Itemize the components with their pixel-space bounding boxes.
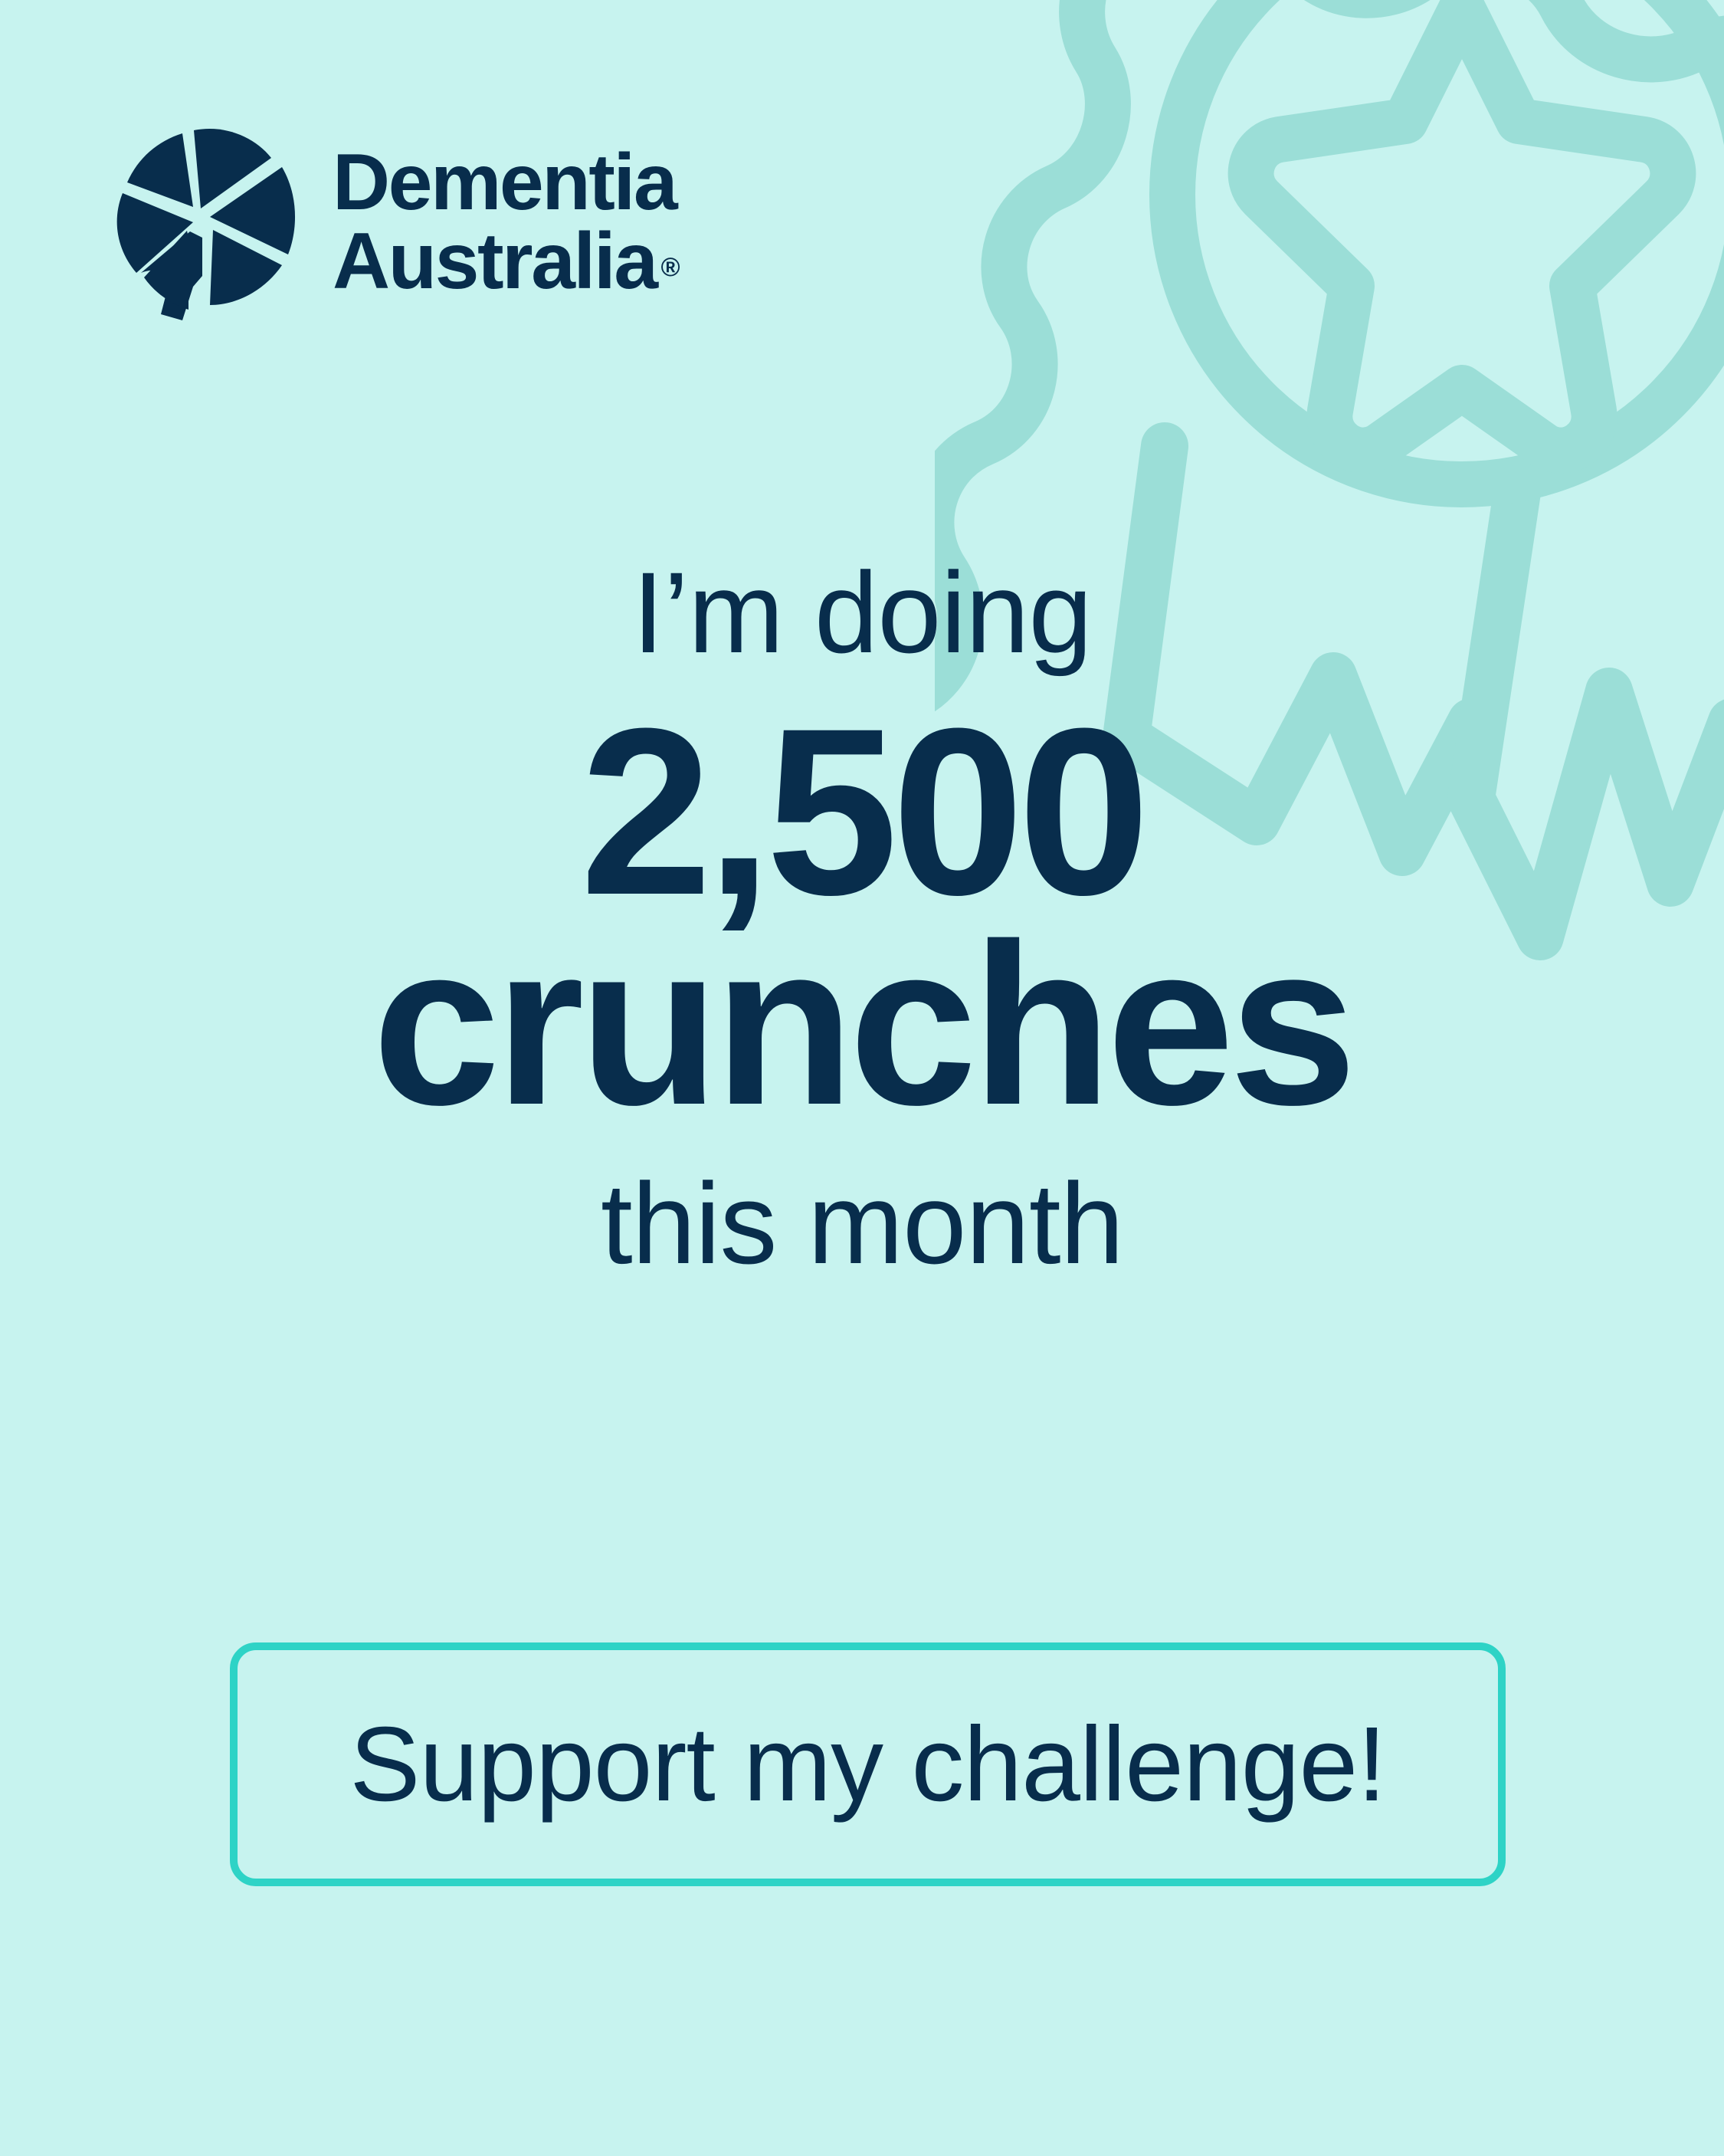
brand-logo-lockup: Dementia Australia ® — [107, 123, 680, 322]
message-pre-text: I’m doing — [0, 552, 1724, 674]
challenge-activity: crunches — [0, 907, 1724, 1141]
brand-name-line1: Dementia — [333, 143, 680, 222]
brand-name-line2: Australia — [333, 222, 657, 301]
fundraising-card: Dementia Australia ® I’m doing 2,500 cru… — [0, 0, 1724, 2156]
support-my-challenge-button[interactable]: Support my challenge! — [230, 1642, 1506, 1886]
cta-container: Support my challenge! — [230, 1642, 1506, 1886]
challenge-message: I’m doing 2,500 crunches this month — [0, 552, 1724, 1285]
message-post-text: this month — [0, 1163, 1724, 1285]
brand-wordmark: Dementia Australia ® — [333, 143, 680, 301]
brain-segments-logo-icon — [107, 123, 299, 322]
registered-trademark-mark: ® — [661, 254, 680, 281]
